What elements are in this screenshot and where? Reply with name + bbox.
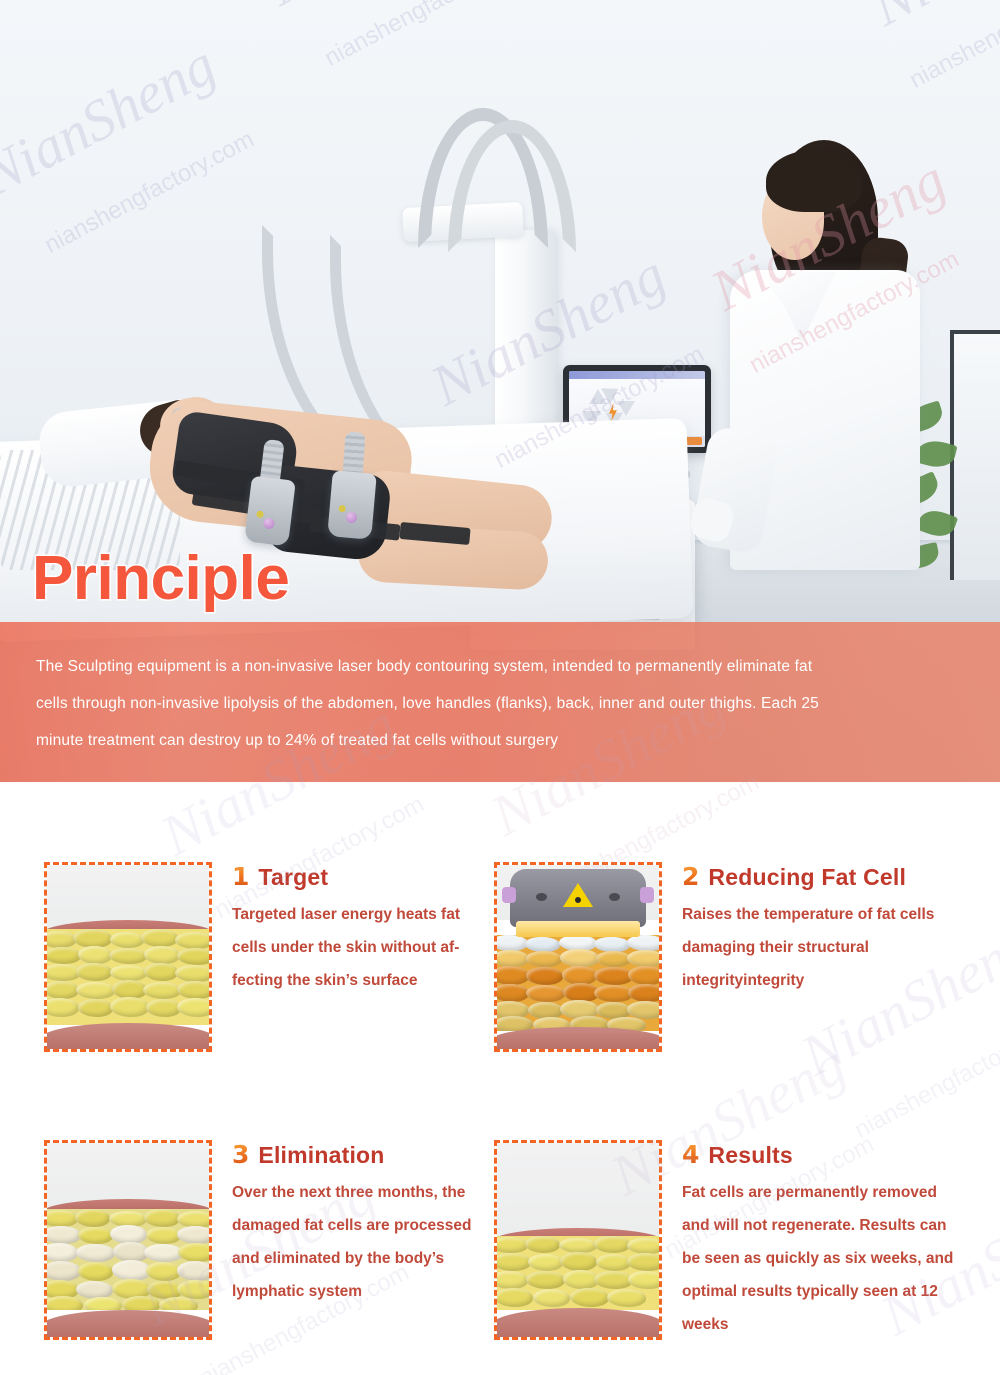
- applicator-indicator: [345, 512, 357, 524]
- fat-cell-layer: [497, 1236, 659, 1310]
- laser-applicator: [327, 470, 377, 540]
- step-number: 3: [232, 1142, 249, 1167]
- step-number: 2: [682, 864, 699, 889]
- laser-applicator: [244, 476, 296, 547]
- laser-glow: [516, 921, 640, 937]
- step-title: Reducing Fat Cell: [708, 864, 906, 891]
- applicator-indicator: [263, 517, 275, 529]
- step-text-block: 4 Results Fat cells are permanently remo…: [682, 1140, 964, 1341]
- banner-line: minute treatment can destroy up to 24% o…: [36, 722, 966, 759]
- step-description: Targeted laser energy heats fat cells un…: [232, 898, 484, 997]
- step-heading: 1 Target: [232, 864, 484, 891]
- step-title: Results: [708, 1142, 792, 1169]
- step-text-block: 2 Reducing Fat Cell Raises the temperatu…: [682, 862, 964, 997]
- damaged-fat-cells-diagram: [44, 1140, 212, 1340]
- banner-text-block: The Sculpting equipment is a non-invasiv…: [36, 648, 966, 759]
- step-description: Over the next three months, the damaged …: [232, 1176, 484, 1308]
- product-detail-page: NianSheng nianshengfactory.com NianSheng…: [0, 0, 1000, 1375]
- laser-applicator-heating-diagram: [494, 862, 662, 1052]
- fat-cell-layer: [47, 1209, 209, 1310]
- page-title: Principle: [32, 543, 289, 614]
- fat-cells-normal-diagram: [44, 862, 212, 1052]
- banner-line: cells through non-invasive lipolysis of …: [36, 685, 966, 722]
- fat-cell-layer: [47, 929, 209, 1025]
- banner-line: The Sculpting equipment is a non-invasiv…: [36, 648, 966, 685]
- step-item-elimination: 3 Elimination Over the next three months…: [44, 1140, 484, 1340]
- step-description: Raises the temperature of fat cells dama…: [682, 898, 964, 997]
- screen-titlebar: [569, 371, 705, 379]
- applicator-led: [256, 510, 264, 518]
- laser-warning-icon: [563, 883, 593, 907]
- step-item-results: 4 Results Fat cells are permanently remo…: [494, 1140, 964, 1341]
- step-item-reducing-fat-cell: 2 Reducing Fat Cell Raises the temperatu…: [494, 862, 964, 1052]
- step-number: 1: [232, 864, 249, 889]
- step-title: Target: [258, 864, 328, 891]
- step-heading: 3 Elimination: [232, 1142, 484, 1169]
- step-heading: 4 Results: [682, 1142, 964, 1169]
- step-description: Fat cells are permanently removed and wi…: [682, 1176, 964, 1341]
- applicator-head-icon: [510, 869, 646, 927]
- step-heading: 2 Reducing Fat Cell: [682, 864, 964, 891]
- step-item-target: 1 Target Targeted laser energy heats fat…: [44, 862, 484, 1052]
- technician-bangs: [766, 150, 862, 212]
- step-title: Elimination: [258, 1142, 384, 1169]
- step-number: 4: [682, 1142, 699, 1167]
- step-text-block: 1 Target Targeted laser energy heats fat…: [232, 862, 484, 997]
- step-text-block: 3 Elimination Over the next three months…: [232, 1140, 484, 1308]
- reduced-fat-layer-diagram: [494, 1140, 662, 1340]
- principle-steps-section: 1 Target Targeted laser energy heats fat…: [0, 800, 1000, 1375]
- fat-cell-layer: [497, 935, 659, 1031]
- principle-description-banner: The Sculpting equipment is a non-invasiv…: [0, 622, 1000, 782]
- applicator-led: [338, 505, 346, 513]
